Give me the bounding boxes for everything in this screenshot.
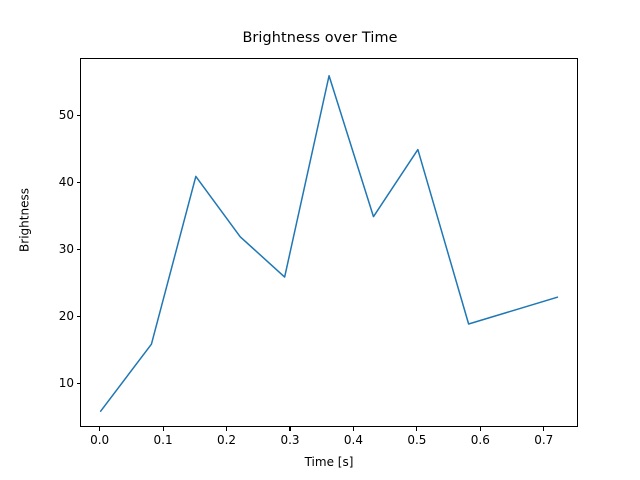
- figure-canvas: Brightness over Time 0.00.10.20.30.40.50…: [0, 0, 640, 480]
- x-tick-mark: [353, 427, 354, 431]
- x-tick-label: 0.5: [407, 433, 426, 447]
- y-tick-mark: [77, 316, 81, 317]
- x-tick-label: 0.1: [154, 433, 173, 447]
- x-tick-mark: [226, 427, 227, 431]
- x-tick-mark: [543, 427, 544, 431]
- x-tick-label: 0.2: [217, 433, 236, 447]
- x-axis-label: Time [s]: [80, 455, 578, 469]
- x-tick-mark: [480, 427, 481, 431]
- x-tick-label: 0.7: [534, 433, 553, 447]
- y-tick-mark: [77, 182, 81, 183]
- plot-area: [80, 58, 578, 427]
- x-tick-mark: [99, 427, 100, 431]
- y-tick-label: 40: [34, 175, 74, 189]
- line-chart-svg: [81, 59, 579, 428]
- x-tick-mark: [416, 427, 417, 431]
- data-series-line: [101, 76, 558, 411]
- chart-title: Brightness over Time: [0, 30, 640, 46]
- y-tick-label: 30: [34, 242, 74, 256]
- y-tick-label: 20: [34, 309, 74, 323]
- y-tick-mark: [77, 249, 81, 250]
- x-tick-label: 0.0: [90, 433, 109, 447]
- x-tick-label: 0.6: [471, 433, 490, 447]
- x-tick-mark: [163, 427, 164, 431]
- y-tick-label: 50: [34, 108, 74, 122]
- y-tick-mark: [77, 383, 81, 384]
- x-tick-label: 0.3: [280, 433, 299, 447]
- x-tick-label: 0.4: [344, 433, 363, 447]
- y-tick-label: 10: [34, 376, 74, 390]
- y-axis-label: Brightness: [18, 36, 32, 405]
- y-tick-mark: [77, 115, 81, 116]
- x-tick-mark: [289, 427, 290, 431]
